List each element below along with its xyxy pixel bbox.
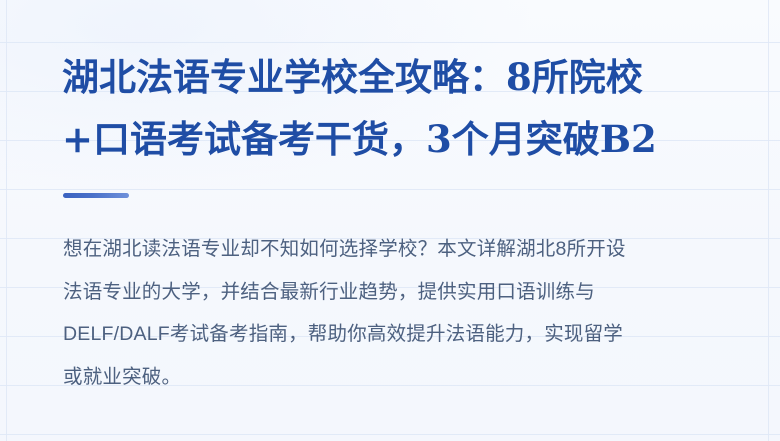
grid-line-left [6,0,7,441]
article-summary-line-2: 法语专业的大学，并结合最新行业趋势，提供实用口语训练与 [63,271,731,314]
page-title: 湖北法语专业学校全攻略：8所院校 +口语考试备考干货，3个月突破B2 [62,46,724,170]
page-title-line-2: +口语考试备考干货，3个月突破B2 [62,108,724,170]
grid-line-right [768,0,769,441]
title-divider [63,193,129,198]
article-summary-line-3: DELF/DALF考试备考指南，帮助你高效提升法语能力，实现留学 [63,313,731,356]
content-container: 湖北法语专业学校全攻略：8所院校 +口语考试备考干货，3个月突破B2 想在湖北读… [62,0,722,441]
article-summary-line-1: 想在湖北读法语专业却不知如何选择学校？本文详解湖北8所开设 [63,228,731,271]
article-summary-line-4: 或就业突破。 [63,356,731,399]
article-cover-card: 湖北法语专业学校全攻略：8所院校 +口语考试备考干货，3个月突破B2 想在湖北读… [0,0,780,441]
page-title-line-1: 湖北法语专业学校全攻略：8所院校 [62,46,724,108]
article-summary: 想在湖北读法语专业却不知如何选择学校？本文详解湖北8所开设 法语专业的大学，并结… [63,228,731,398]
